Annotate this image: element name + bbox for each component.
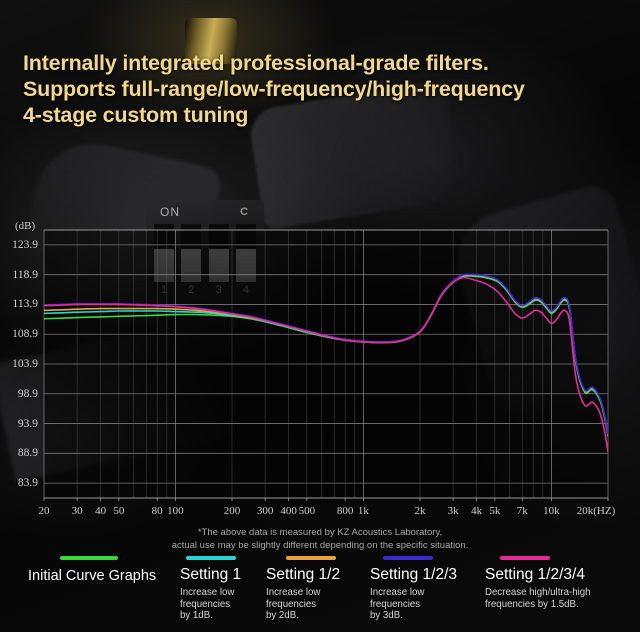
frequency-response-chart: (dB) 123.9118.9113.9108.9103.998.993.988… <box>0 213 640 533</box>
legend-item-setting-1-2-3[interactable]: Setting 1/2/3Increase low frequencies by… <box>370 556 457 622</box>
legend-desc-setting-1-2-3-4: Decrease high/ultra-high frequencies by … <box>485 587 591 610</box>
legend-swatch-setting-1 <box>186 556 236 560</box>
legend-item-initial-curve[interactable]: Initial Curve Graphs <box>28 556 156 586</box>
legend-swatch-setting-1-2 <box>286 556 336 560</box>
x-tick-label: 500 <box>299 505 316 517</box>
chart-legend: Initial Curve GraphsSetting 1Increase lo… <box>0 556 640 632</box>
legend-item-setting-1-2-3-4[interactable]: Setting 1/2/3/4Decrease high/ultra-high … <box>485 556 591 610</box>
x-tick-label: 300 <box>257 505 274 517</box>
legend-item-setting-1-2[interactable]: Setting 1/2Increase low frequencies by 2… <box>266 556 340 622</box>
x-tick-label: 3k <box>448 505 459 517</box>
x-tick-label: 5k <box>489 505 500 517</box>
legend-swatch-setting-1-2-3 <box>383 556 433 560</box>
footnote-line-2: actual use may be slightly different dep… <box>0 540 640 553</box>
legend-item-setting-1[interactable]: Setting 1Increase low frequencies by 1dB… <box>180 556 241 622</box>
x-axis-tick-labels: 20304050801002003004005008001k2k3k4k5k7k… <box>0 501 640 527</box>
legend-swatch-initial-curve <box>60 556 118 560</box>
x-tick-label: 1k <box>358 505 369 517</box>
headline: Internally integrated professional-grade… <box>23 50 633 128</box>
x-tick-label: 10k <box>543 505 560 517</box>
legend-desc-setting-1: Increase low frequencies by 1dB. <box>180 587 241 622</box>
x-tick-label: 800 <box>337 505 354 517</box>
footnote-line-1: *The above data is measured by KZ Acoust… <box>0 527 640 540</box>
legend-desc-setting-1-2: Increase low frequencies by 2dB. <box>266 587 340 622</box>
x-tick-label: 20 <box>39 505 50 517</box>
x-tick-label: 30 <box>72 505 83 517</box>
legend-title-setting-1-2: Setting 1/2 <box>266 565 340 584</box>
promo-page: ON Ɔ 1 2 3 4 Internally integrated profe… <box>0 0 640 632</box>
legend-swatch-setting-1-2-3-4 <box>500 556 550 560</box>
x-tick-label: 40 <box>95 505 106 517</box>
x-tick-label: 80 <box>152 505 163 517</box>
legend-desc-setting-1-2-3: Increase low frequencies by 3dB. <box>370 587 457 622</box>
legend-title-setting-1: Setting 1 <box>180 565 241 584</box>
headline-line-2: Supports full-range/low-frequency/high-f… <box>23 76 633 102</box>
x-tick-label: 2k <box>415 505 426 517</box>
x-tick-label: 100 <box>167 505 184 517</box>
headline-line-1: Internally integrated professional-grade… <box>23 50 633 76</box>
legend-title-setting-1-2-3: Setting 1/2/3 <box>370 565 457 584</box>
x-tick-label: 20k(HZ) <box>577 505 616 517</box>
headline-line-3: 4-stage custom tuning <box>23 102 633 128</box>
legend-title-setting-1-2-3-4: Setting 1/2/3/4 <box>485 565 591 584</box>
chart-footnote: *The above data is measured by KZ Acoust… <box>0 527 640 552</box>
x-tick-label: 7k <box>517 505 528 517</box>
x-tick-label: 200 <box>224 505 241 517</box>
x-tick-label: 50 <box>113 505 124 517</box>
legend-title-initial-curve: Initial Curve Graphs <box>28 567 156 586</box>
chart-plot-area <box>0 213 640 503</box>
x-tick-label: 4k <box>471 505 482 517</box>
x-tick-label: 400 <box>280 505 297 517</box>
